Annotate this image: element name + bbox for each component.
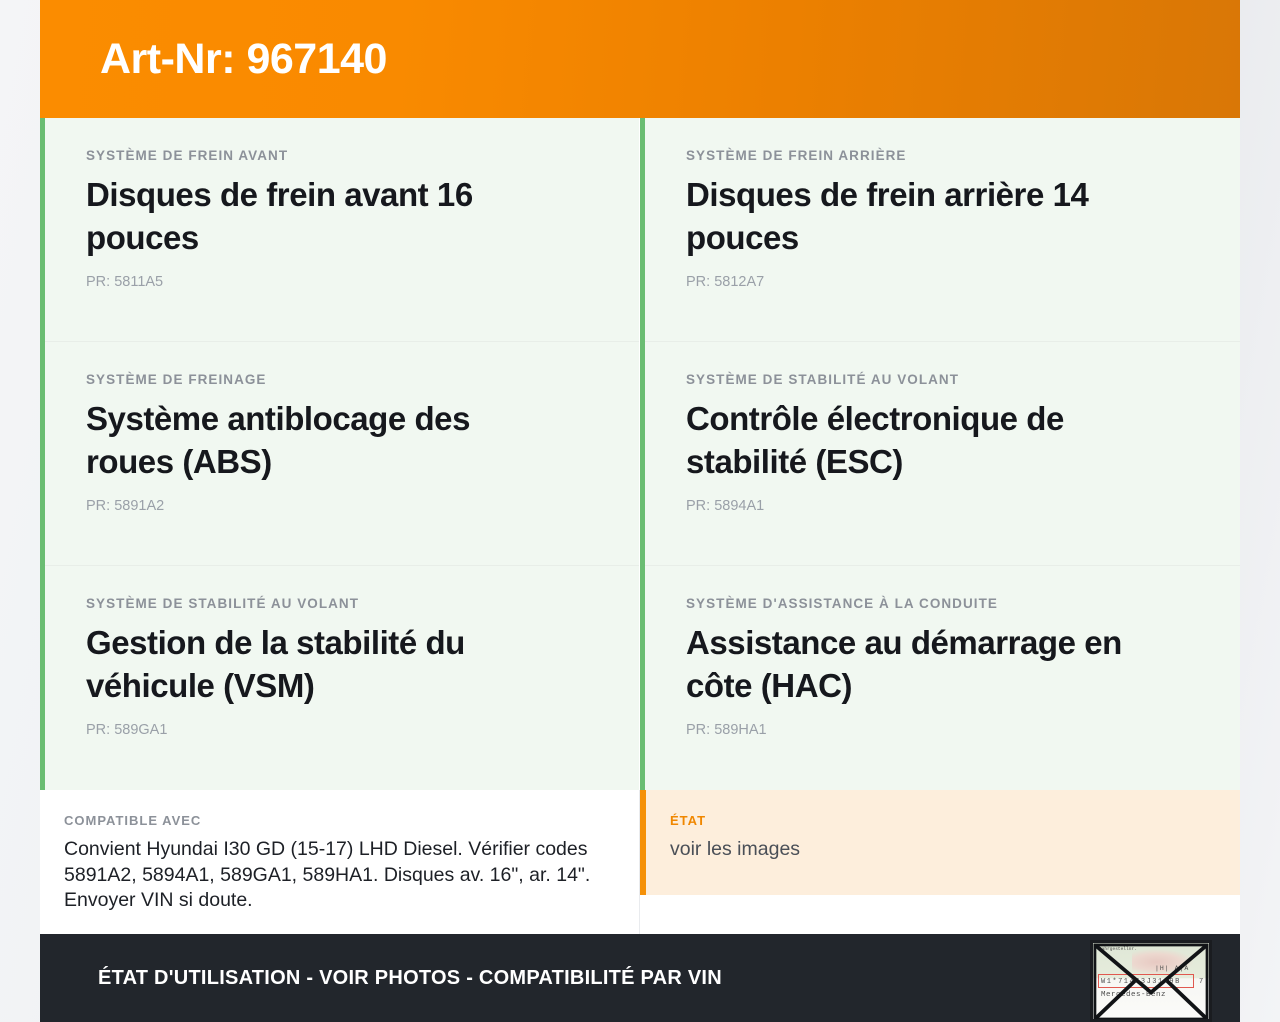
condition-label: ÉTAT (670, 813, 1210, 829)
feature-pr-code: PR: 5894A1 (686, 498, 1194, 515)
feature-card-2: SYSTÈME DE FREIN ARRIÈRE Disques de frei… (640, 118, 1240, 342)
condition-panel: ÉTAT voir les images (640, 790, 1240, 895)
vin-document-thumbnail[interactable]: Fahrgestellnr. |H| A|A W1*71463J31*9B 7 … (1090, 940, 1212, 1022)
listing-page: Art-Nr: 967140 SYSTÈME DE FREIN AVANT Di… (40, 0, 1240, 1022)
feature-category: SYSTÈME D'ASSISTANCE À LA CONDUITE (686, 596, 1194, 612)
page-footer: ÉTAT D'UTILISATION - VOIR PHOTOS - COMPA… (40, 934, 1240, 1022)
feature-pr-code: PR: 5811A5 (86, 274, 593, 291)
feature-card-5: SYSTÈME DE STABILITÉ AU VOLANT Gestion d… (40, 566, 639, 790)
condition-text: voir les images (670, 837, 1210, 863)
feature-pr-code: PR: 589GA1 (86, 722, 593, 739)
feature-category: SYSTÈME DE STABILITÉ AU VOLANT (86, 596, 593, 612)
feature-category: SYSTÈME DE STABILITÉ AU VOLANT (686, 372, 1194, 388)
info-row: COMPATIBLE AVEC Convient Hyundai I30 GD … (40, 790, 1240, 934)
feature-card-1: SYSTÈME DE FREIN AVANT Disques de frein … (40, 118, 639, 342)
page-header: Art-Nr: 967140 (40, 0, 1240, 118)
compatibility-label: COMPATIBLE AVEC (64, 813, 599, 829)
feature-title: Gestion de la stabilité du véhicule (VSM… (86, 622, 556, 708)
feature-category: SYSTÈME DE FREINAGE (86, 372, 593, 388)
feature-category: SYSTÈME DE FREIN AVANT (86, 148, 593, 164)
footer-banner-text: ÉTAT D'UTILISATION - VOIR PHOTOS - COMPA… (40, 967, 722, 990)
feature-card-3: SYSTÈME DE FREINAGE Système antiblocage … (40, 342, 639, 566)
compatibility-panel: COMPATIBLE AVEC Convient Hyundai I30 GD … (40, 790, 640, 934)
envelope-icon (1093, 943, 1209, 1021)
feature-title: Système antiblocage des roues (ABS) (86, 398, 556, 484)
feature-pr-code: PR: 5891A2 (86, 498, 593, 515)
feature-pr-code: PR: 5812A7 (686, 274, 1194, 291)
feature-grid: SYSTÈME DE FREIN AVANT Disques de frein … (40, 118, 1240, 790)
feature-card-4: SYSTÈME DE STABILITÉ AU VOLANT Contrôle … (640, 342, 1240, 566)
feature-title: Disques de frein arrière 14 pouces (686, 174, 1156, 260)
page-title: Art-Nr: 967140 (40, 38, 387, 81)
feature-title: Contrôle électronique de stabilité (ESC) (686, 398, 1156, 484)
feature-title: Disques de frein avant 16 pouces (86, 174, 556, 260)
feature-category: SYSTÈME DE FREIN ARRIÈRE (686, 148, 1194, 164)
feature-pr-code: PR: 589HA1 (686, 722, 1194, 739)
compatibility-text: Convient Hyundai I30 GD (15-17) LHD Dies… (64, 837, 594, 915)
feature-title: Assistance au démarrage en côte (HAC) (686, 622, 1156, 708)
feature-card-6: SYSTÈME D'ASSISTANCE À LA CONDUITE Assis… (640, 566, 1240, 790)
